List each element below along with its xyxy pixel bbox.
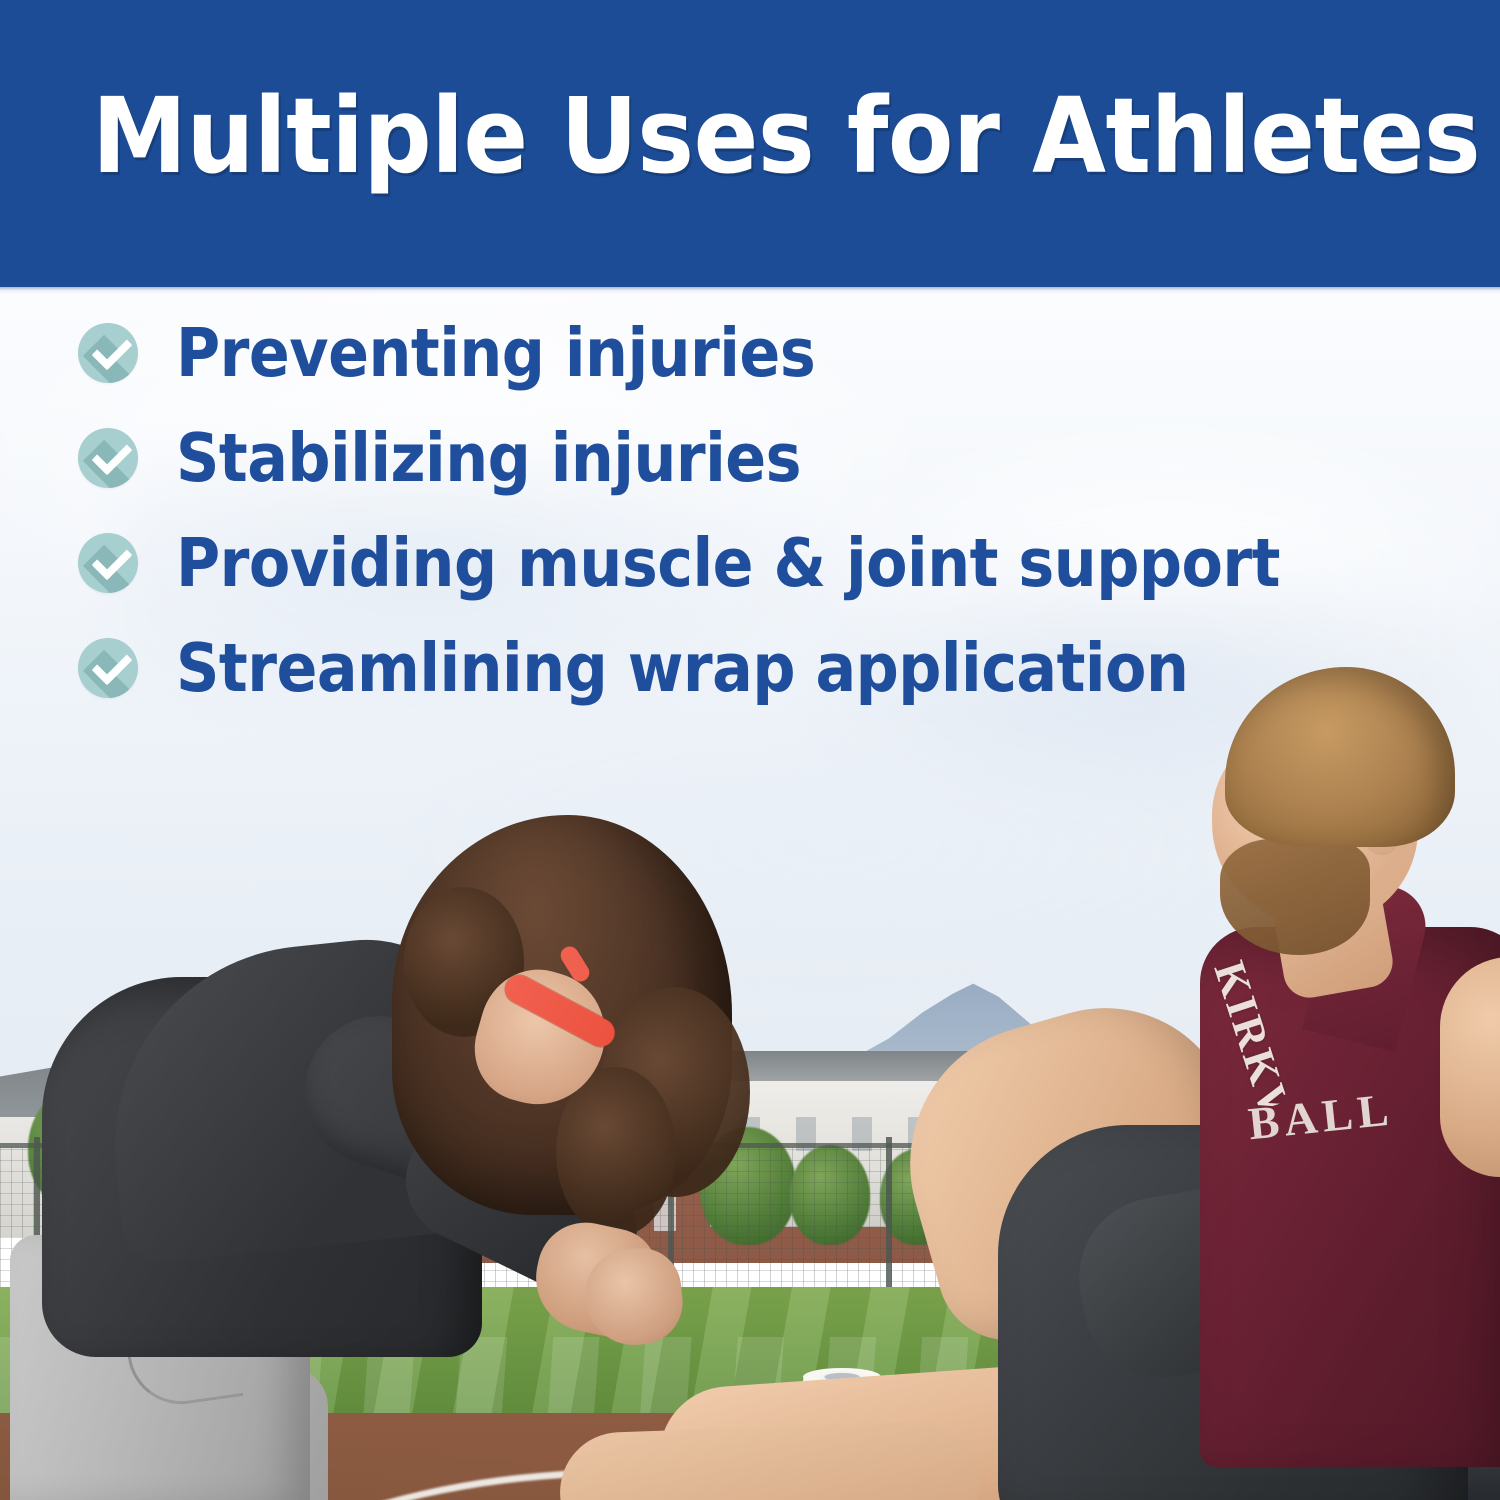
page-title: Multiple Uses for Athletes bbox=[92, 82, 1449, 190]
list-item-label: Stabilizing injuries bbox=[176, 423, 801, 493]
check-circle-icon bbox=[78, 428, 138, 488]
check-circle-icon bbox=[78, 323, 138, 383]
list-item: Stabilizing injuries bbox=[0, 405, 1500, 510]
athlete-shoulder bbox=[1440, 957, 1500, 1177]
athlete-calf bbox=[558, 1420, 982, 1500]
list-item-label: Providing muscle & joint support bbox=[176, 528, 1280, 598]
product-feature-poster: KIRKWOOD BALL Multiple Uses for Athletes bbox=[0, 0, 1500, 1500]
list-item: Providing muscle & joint support bbox=[0, 510, 1500, 615]
list-item: Streamlining wrap application bbox=[0, 615, 1500, 720]
check-circle-icon bbox=[78, 638, 138, 698]
list-item-label: Preventing injuries bbox=[176, 318, 815, 388]
header-banner: Multiple Uses for Athletes bbox=[0, 0, 1500, 287]
benefits-list: Preventing injuries Stabilizing injuries… bbox=[0, 300, 1500, 720]
list-item: Preventing injuries bbox=[0, 300, 1500, 405]
list-item-label: Streamlining wrap application bbox=[176, 633, 1188, 703]
check-circle-icon bbox=[78, 533, 138, 593]
